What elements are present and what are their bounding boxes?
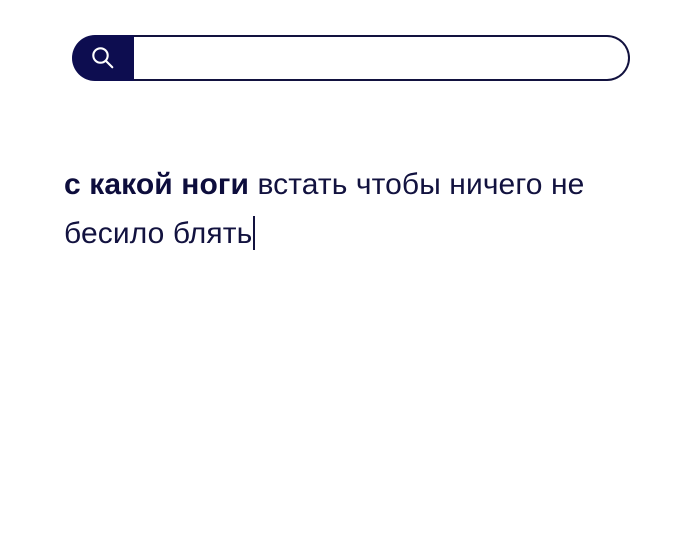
- query-caption: с какой ноги встать чтобы ничего не беси…: [64, 160, 664, 258]
- text-caret: [253, 216, 255, 250]
- search-bar[interactable]: [72, 35, 630, 81]
- search-icon-button[interactable]: [72, 35, 134, 81]
- search-icon: [90, 45, 116, 71]
- query-bold-part: с какой ноги: [64, 168, 249, 201]
- search-input-wrapper[interactable]: [133, 35, 630, 81]
- page-canvas: с какой ноги встать чтобы ничего не беси…: [0, 0, 700, 535]
